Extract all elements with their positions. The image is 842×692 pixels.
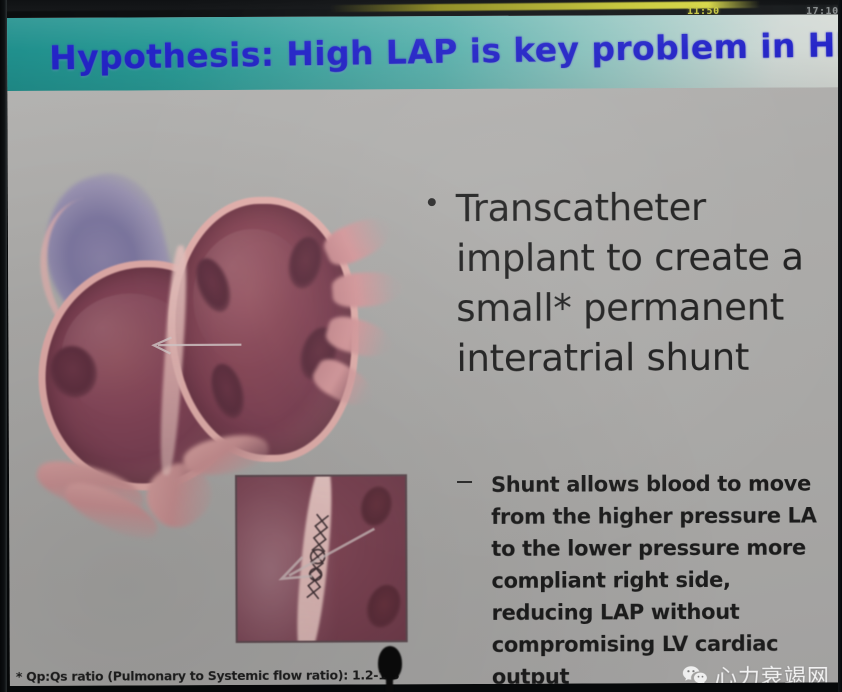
pulmonary-vein-branch <box>320 210 397 271</box>
shunt-device-inset-panel <box>235 474 408 643</box>
screenshot-root: 11:50 17:10 Hypothesis: High LAP is key … <box>0 0 842 692</box>
main-bullet-row: Transcatheter implant to create a small*… <box>420 182 821 384</box>
watermark-text: 心力衰竭网 <box>715 659 830 686</box>
bullet-dot-icon <box>428 198 436 206</box>
sub-bullet-dash-icon <box>457 481 472 483</box>
sub-bullet-text: Shunt allows blood to move from the high… <box>491 467 818 686</box>
slide-title: Hypothesis: High LAP is key problem in H… <box>49 27 810 78</box>
left-dark-edge <box>0 0 7 692</box>
inset-trabeculation <box>361 580 406 632</box>
wechat-icon <box>682 665 708 686</box>
microphone-stem <box>386 676 393 692</box>
interatrial-shunt-illustration <box>16 174 428 596</box>
microphone-head <box>378 646 402 680</box>
watermark: 心力衰竭网 <box>682 659 830 686</box>
projected-slide: Hypothesis: High LAP is key problem in H… <box>7 14 842 686</box>
slide-body: Transcatheter implant to create a small*… <box>7 87 842 686</box>
right-dark-edge <box>838 0 842 692</box>
microphone-silhouette <box>376 646 404 692</box>
main-bullet-block: Transcatheter implant to create a small*… <box>420 182 821 384</box>
main-bullet-text: Transcatheter implant to create a small*… <box>456 182 821 384</box>
slide-title-banner: Hypothesis: High LAP is key problem in H… <box>7 14 839 91</box>
pulmonary-vein-branch <box>331 270 403 309</box>
sub-bullet-block: Shunt allows blood to move from the high… <box>457 467 818 686</box>
slide-footnote: * Qp:Qs ratio (Pulmonary to Systemic flo… <box>16 667 400 684</box>
